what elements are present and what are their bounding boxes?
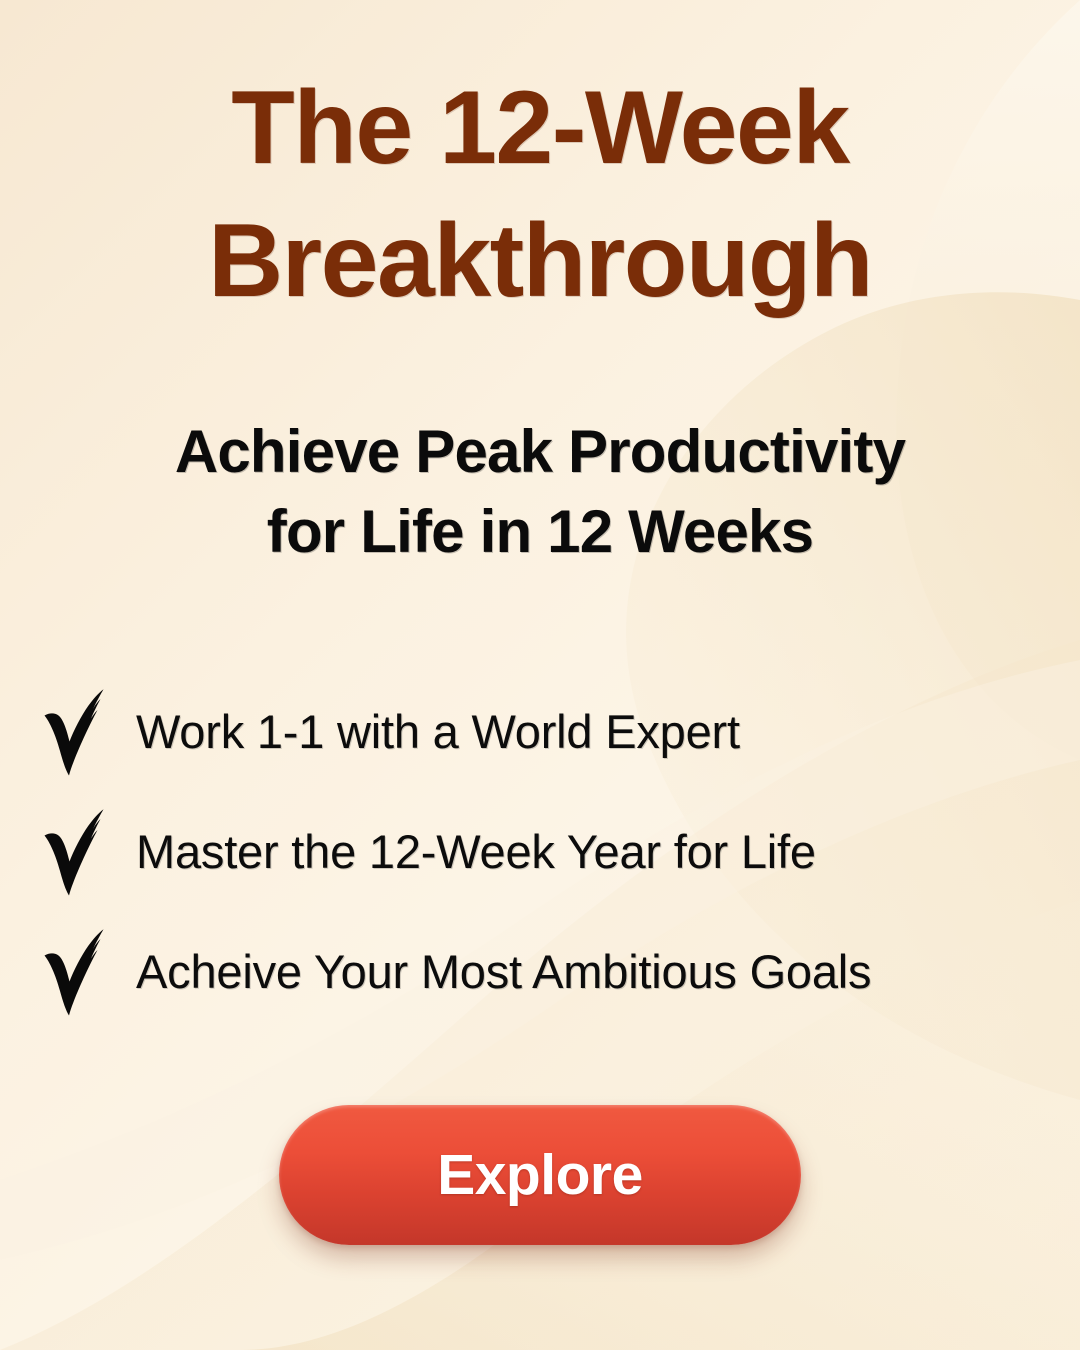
- benefit-label: Master the 12-Week Year for Life: [136, 827, 816, 876]
- benefit-label: Work 1-1 with a World Expert: [136, 707, 740, 756]
- check-mark-icon: [40, 806, 112, 898]
- check-mark-icon: [40, 926, 112, 1018]
- page-subtitle: Achieve Peak Productivity for Life in 12…: [0, 412, 1080, 572]
- list-item: Work 1-1 with a World Expert: [40, 672, 1050, 792]
- headline-line-2: Breakthrough: [0, 195, 1080, 328]
- cta-container: Explore: [0, 1105, 1080, 1245]
- check-mark-icon: [40, 686, 112, 778]
- subtitle-line-1: Achieve Peak Productivity: [0, 412, 1080, 492]
- page-title: The 12-Week Breakthrough: [0, 62, 1080, 328]
- headline-line-1: The 12-Week: [0, 62, 1080, 195]
- poster-content: The 12-Week Breakthrough Achieve Peak Pr…: [0, 0, 1080, 1350]
- list-item: Master the 12-Week Year for Life: [40, 792, 1050, 912]
- promo-poster: The 12-Week Breakthrough Achieve Peak Pr…: [0, 0, 1080, 1350]
- explore-button[interactable]: Explore: [279, 1105, 801, 1245]
- benefit-label: Acheive Your Most Ambitious Goals: [136, 947, 871, 996]
- list-item: Acheive Your Most Ambitious Goals: [40, 912, 1050, 1032]
- benefits-list: Work 1-1 with a World Expert Master the …: [40, 672, 1050, 1032]
- subtitle-line-2: for Life in 12 Weeks: [0, 492, 1080, 572]
